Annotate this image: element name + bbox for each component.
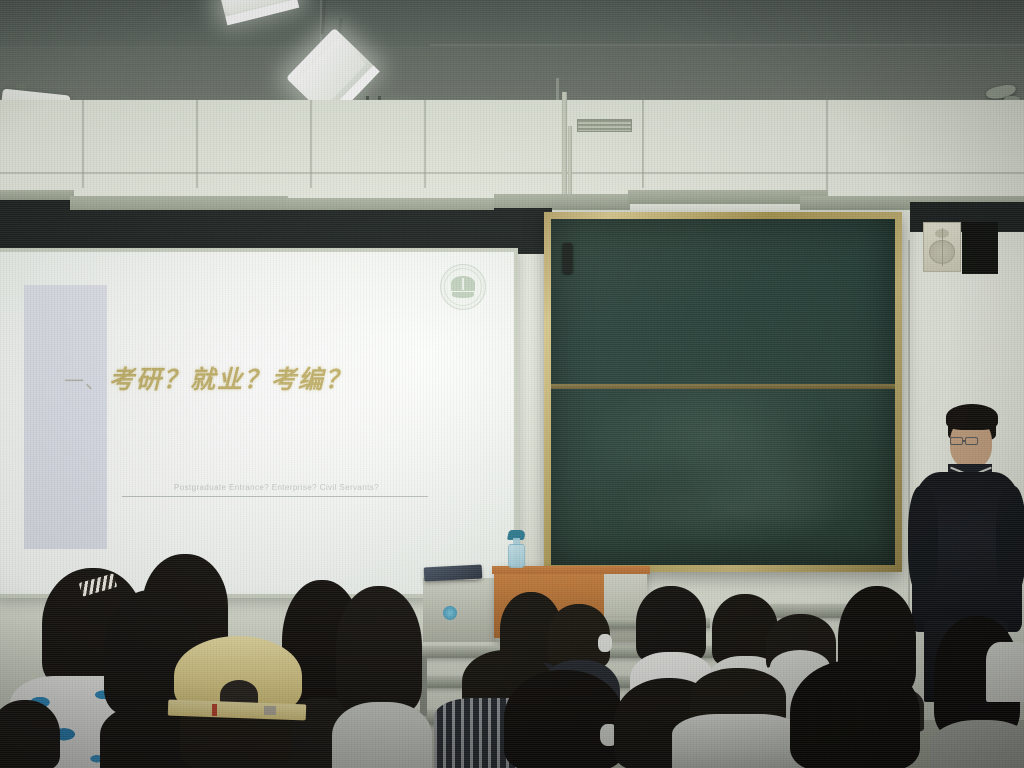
presenter-glasses-bridge [962, 440, 966, 442]
wall-panel-seam [826, 90, 828, 190]
presenter-arm-left [908, 486, 938, 596]
cap-tag [212, 704, 217, 716]
wall-panel-seam [424, 100, 426, 188]
student-hair [636, 586, 706, 662]
student-head-back [0, 700, 60, 768]
ceiling-slab [0, 0, 1024, 46]
classroom-photo: 一、 考研？就业？考编？ Postgraduate Entrance? Ente… [0, 0, 1024, 768]
student-grey-hoodie [672, 714, 804, 768]
chalkboard-rail [551, 384, 895, 389]
wall-speaker [923, 222, 961, 272]
student-white-top [986, 642, 1024, 702]
student-long-hair [790, 660, 920, 768]
upper-dark-band [0, 200, 70, 252]
chalk-eraser [563, 243, 572, 273]
presenter-arm-right [996, 486, 1024, 596]
wall-trim-line [0, 172, 1024, 174]
student-yellow-cap-person [168, 636, 308, 768]
presenter-glasses-icon [965, 437, 978, 445]
student-head-back [504, 670, 624, 768]
student-light-top [930, 720, 1024, 768]
wall-panel-seam [196, 100, 198, 188]
logo-book-icon [452, 292, 473, 297]
wall-panel-seam [310, 100, 312, 188]
student-light-top [332, 702, 432, 768]
chalk-smudge [611, 469, 851, 549]
cap-size-tag [264, 706, 276, 715]
ceiling-seam [430, 44, 1024, 46]
wall-dark-panel [962, 222, 998, 274]
chalkboard-surface [551, 219, 895, 565]
speaker-divider [942, 228, 943, 266]
wall-air-vent [577, 119, 632, 132]
student-face-mask [598, 634, 612, 652]
wall-conduit [568, 126, 572, 194]
logo-pillar-icon [462, 278, 465, 289]
green-chalkboard [544, 212, 902, 572]
podium-side-panel [423, 578, 501, 642]
wall-panel-seam [82, 100, 84, 188]
podium-badge-icon [443, 606, 457, 620]
slide-sidebar-panel [24, 285, 107, 549]
student-head-back [986, 622, 1024, 702]
student-long-hair [504, 670, 624, 768]
student-head-back [676, 668, 796, 768]
board-rail-cap [628, 190, 828, 204]
slide-section-number: 一、 [64, 365, 106, 394]
slide-subtitle: Postgraduate Entrance? Enterprise? Civil… [174, 483, 379, 492]
student-head-back [336, 586, 422, 768]
student-head-back [790, 660, 920, 768]
university-seal-logo [440, 264, 486, 310]
slide-title: 考研？就业？考编？ [109, 360, 352, 396]
spray-bottle [508, 530, 525, 568]
spray-body [508, 544, 525, 568]
student-long-hair [336, 586, 422, 712]
projection-screen: 一、 考研？就业？考编？ Postgraduate Entrance? Ente… [0, 252, 514, 594]
wall-conduit [562, 92, 567, 194]
board-rail-cap [0, 190, 74, 200]
slide-divider-rule [122, 496, 428, 497]
student-hair [0, 700, 60, 768]
presenter-hair-top [946, 404, 998, 430]
